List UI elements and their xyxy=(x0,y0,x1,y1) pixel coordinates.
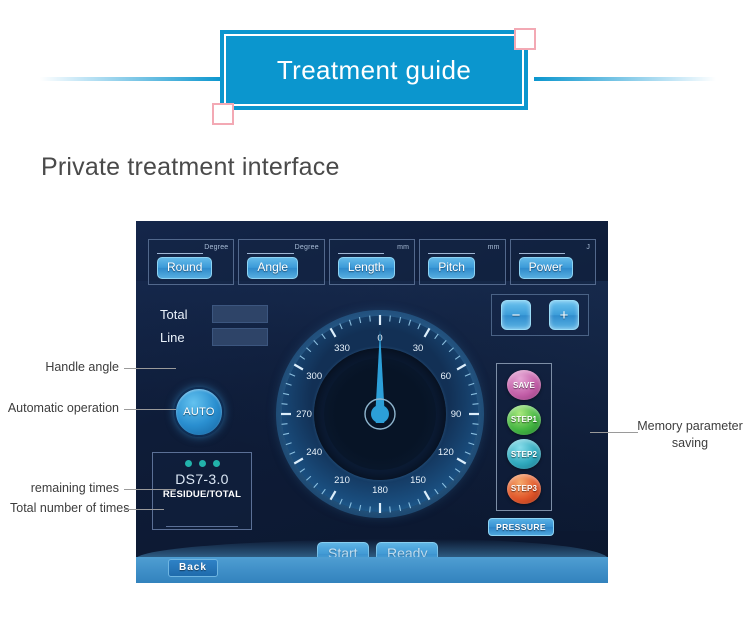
parameter-value-slot xyxy=(247,253,293,254)
svg-text:60: 60 xyxy=(441,371,452,382)
counter-group: Total Line xyxy=(160,305,268,351)
annotation-automatic-operation: Automatic operation xyxy=(0,401,119,415)
annotation-leader-line xyxy=(124,409,176,410)
device-model-label: DS7-3.0 xyxy=(175,471,228,487)
annotation-total-number-of-times: Total number of times xyxy=(10,501,119,515)
gauge-hub xyxy=(371,405,389,423)
annotation-memory-parameter-saving: Memory parameter saving xyxy=(635,418,745,452)
parameter-unit-label: Degree xyxy=(295,244,319,251)
parameter-unit-label: mm xyxy=(488,244,500,251)
status-box: DS7-3.0 RESIDUE/TOTAL xyxy=(152,452,252,530)
header-decor-line-right xyxy=(534,77,716,81)
status-indicator-dots xyxy=(185,460,220,467)
increment-button[interactable]: + xyxy=(549,300,579,330)
parameter-unit-label: Degree xyxy=(204,244,228,251)
parameter-unit-label: mm xyxy=(397,244,409,251)
handle-angle-gauge: 0306090120150180210240270300330 xyxy=(276,310,484,518)
svg-text:210: 210 xyxy=(334,475,350,486)
memory-button-group: SAVE STEP1 STEP2 STEP3 xyxy=(496,363,552,511)
annotation-leader-line xyxy=(124,489,176,490)
svg-text:30: 30 xyxy=(413,343,424,354)
gauge-scale-svg: 0306090120150180210240270300330 xyxy=(276,310,484,518)
back-button[interactable]: Back xyxy=(168,559,218,577)
decrement-button[interactable]: − xyxy=(501,300,531,330)
memory-step2-button[interactable]: STEP2 xyxy=(507,439,541,469)
annotation-leader-line xyxy=(590,432,638,433)
parameter-cell-pitch: mm Pitch xyxy=(419,239,505,285)
status-dot xyxy=(199,460,206,467)
banner-box: Treatment guide xyxy=(220,30,528,110)
parameter-cell-angle: Degree Angle xyxy=(238,239,324,285)
banner-corner-square-top-right xyxy=(514,28,536,50)
memory-save-button[interactable]: SAVE xyxy=(507,370,541,400)
annotation-leader-line xyxy=(124,368,176,369)
counter-row-total: Total xyxy=(160,305,268,323)
counter-row-line: Line xyxy=(160,328,268,346)
parameter-value-slot xyxy=(519,253,565,254)
annotation-handle-angle: Handle angle xyxy=(41,360,119,374)
annotation-remaining-times: remaining times xyxy=(10,481,119,495)
device-screen-panel: Degree Round Degree Angle mm Length mm P… xyxy=(136,221,608,583)
parameter-button-row: Degree Round Degree Angle mm Length mm P… xyxy=(148,239,596,285)
counter-label-line: Line xyxy=(160,330,212,345)
residue-total-label: RESIDUE/TOTAL xyxy=(163,489,241,500)
annotation-leader-line xyxy=(124,509,164,510)
banner-inner-border: Treatment guide xyxy=(224,34,524,106)
memory-step3-button[interactable]: STEP3 xyxy=(507,474,541,504)
parameter-cell-length: mm Length xyxy=(329,239,415,285)
svg-text:120: 120 xyxy=(438,447,454,458)
parameter-cell-round: Degree Round xyxy=(148,239,234,285)
power-button[interactable]: Power xyxy=(519,257,573,279)
page-header: Treatment guide xyxy=(0,0,750,140)
pitch-button[interactable]: Pitch xyxy=(428,257,475,279)
status-dot xyxy=(213,460,220,467)
round-button[interactable]: Round xyxy=(157,257,212,279)
parameter-value-slot xyxy=(428,253,474,254)
svg-text:330: 330 xyxy=(334,343,350,354)
length-button[interactable]: Length xyxy=(338,257,395,279)
annotation-line-1: Memory parameter xyxy=(637,419,743,433)
banner-title: Treatment guide xyxy=(277,57,471,83)
svg-text:240: 240 xyxy=(306,447,322,458)
angle-button[interactable]: Angle xyxy=(247,257,298,279)
status-dot xyxy=(185,460,192,467)
counter-value-line[interactable] xyxy=(212,328,268,346)
page-root: Treatment guide Private treatment interf… xyxy=(0,0,750,624)
parameter-value-slot xyxy=(338,253,384,254)
parameter-cell-power: J Power xyxy=(510,239,596,285)
memory-step1-button[interactable]: STEP1 xyxy=(507,405,541,435)
svg-text:150: 150 xyxy=(410,475,426,486)
auto-button-label: AUTO xyxy=(183,406,215,418)
header-decor-line-left xyxy=(40,77,222,81)
counter-label-total: Total xyxy=(160,307,212,322)
parameter-value-slot xyxy=(157,253,203,254)
annotation-line-2: saving xyxy=(672,436,708,450)
svg-text:180: 180 xyxy=(372,485,388,496)
svg-text:300: 300 xyxy=(306,371,322,382)
svg-text:270: 270 xyxy=(296,409,312,420)
page-title: Private treatment interface xyxy=(41,153,340,182)
svg-text:90: 90 xyxy=(451,409,462,420)
counter-value-total[interactable] xyxy=(212,305,268,323)
status-box-divider xyxy=(166,526,238,527)
banner-corner-square-bottom-left xyxy=(212,103,234,125)
auto-button[interactable]: AUTO xyxy=(174,387,224,437)
pressure-button[interactable]: PRESSURE xyxy=(488,518,554,536)
value-stepper: − + xyxy=(491,294,589,336)
parameter-unit-label: J xyxy=(586,244,590,251)
